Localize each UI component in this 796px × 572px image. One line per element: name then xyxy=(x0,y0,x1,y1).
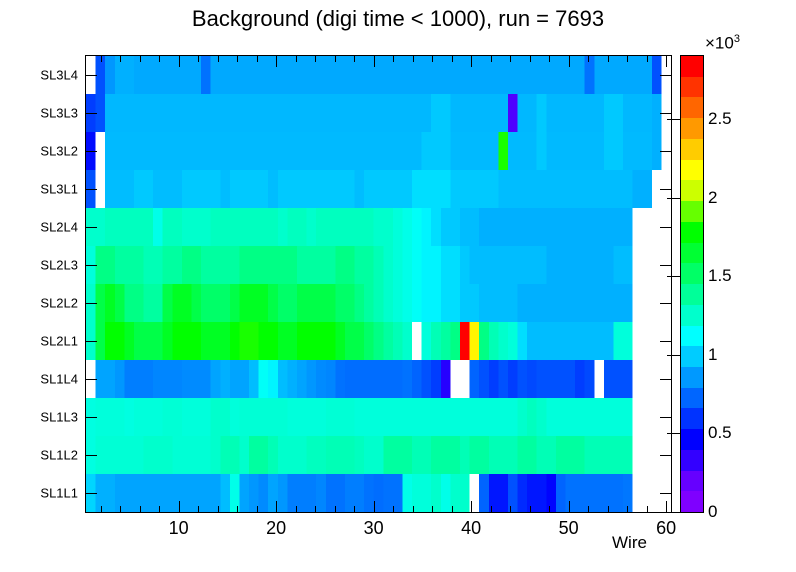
x-axis-tick-top xyxy=(452,56,453,62)
palette-band xyxy=(681,326,703,347)
x-axis-minor-tick xyxy=(432,506,433,512)
palette-tick xyxy=(667,119,681,120)
palette-tick xyxy=(667,512,681,513)
color-palette-axis[interactable]: 00.511.522.5 xyxy=(680,55,704,513)
y-axis-label-sl2l1: SL2L1 xyxy=(40,334,78,349)
x-axis-minor-tick xyxy=(393,506,394,512)
x-axis-tick-top xyxy=(374,56,375,67)
y-axis-tick-right xyxy=(660,493,671,494)
palette-band xyxy=(681,491,703,512)
y-axis-label-sl3l1: SL3L1 xyxy=(40,182,78,197)
palette-exponent-base: ×10 xyxy=(705,34,734,53)
y-axis-label-sl1l1: SL1L1 xyxy=(40,486,78,501)
x-axis-tick-top xyxy=(530,56,531,62)
x-axis-title: Wire xyxy=(612,533,647,553)
x-axis-major-tick xyxy=(666,501,667,512)
palette-exponent: ×103 xyxy=(705,33,740,54)
x-axis-minor-tick xyxy=(627,506,628,512)
palette-band xyxy=(681,429,703,450)
x-axis-tick-top xyxy=(588,56,589,62)
x-axis-minor-tick xyxy=(101,506,102,512)
x-axis-tick-top xyxy=(627,56,628,62)
x-axis-minor-tick xyxy=(335,506,336,512)
x-axis-tick-top xyxy=(159,56,160,62)
palette-band xyxy=(681,180,703,201)
x-axis-tick-top xyxy=(257,56,258,62)
page-title: Background (digi time < 1000), run = 769… xyxy=(0,6,796,32)
x-axis-minor-tick xyxy=(140,506,141,512)
x-axis-minor-tick xyxy=(413,506,414,512)
x-axis-major-tick xyxy=(374,501,375,512)
palette-tick xyxy=(667,276,681,277)
y-axis-label-sl3l3: SL3L3 xyxy=(40,106,78,121)
x-axis-minor-tick xyxy=(120,506,121,512)
x-axis-tick-top xyxy=(510,56,511,62)
x-axis-minor-tick xyxy=(354,506,355,512)
x-axis-tick-top xyxy=(101,56,102,62)
palette-tick xyxy=(667,355,681,356)
x-axis-minor-tick xyxy=(647,506,648,512)
y-axis-tick xyxy=(86,341,97,342)
palette-band xyxy=(681,243,703,264)
x-axis-minor-tick xyxy=(549,506,550,512)
y-axis-label-sl1l3: SL1L3 xyxy=(40,410,78,425)
x-axis-tick-top xyxy=(140,56,141,62)
x-axis-minor-tick xyxy=(588,506,589,512)
y-axis-tick xyxy=(86,493,97,494)
palette-tick-label-2-5: 2.5 xyxy=(708,109,732,129)
y-axis-tick xyxy=(86,113,97,114)
y-axis-tick xyxy=(86,227,97,228)
y-axis-tick-right xyxy=(660,265,671,266)
x-axis-tick-top xyxy=(120,56,121,62)
y-axis-tick-right xyxy=(660,151,671,152)
color-palette-strip xyxy=(681,56,703,512)
y-axis-tick-right xyxy=(660,379,671,380)
y-axis-label-sl1l2: SL1L2 xyxy=(40,448,78,463)
x-axis-minor-tick xyxy=(159,506,160,512)
heatmap-canvas xyxy=(86,56,671,512)
y-axis-tick-right xyxy=(660,113,671,114)
x-axis-minor-tick xyxy=(452,506,453,512)
y-axis-label-sl2l4: SL2L4 xyxy=(40,220,78,235)
x-axis-tick-top xyxy=(608,56,609,62)
x-axis-tick-label-10: 10 xyxy=(169,518,189,539)
x-axis-tick-top xyxy=(335,56,336,62)
palette-band xyxy=(681,97,703,118)
palette-exponent-power: 3 xyxy=(734,33,740,45)
palette-band xyxy=(681,367,703,388)
x-axis-tick-top xyxy=(666,56,667,67)
x-axis-minor-tick xyxy=(510,506,511,512)
heatmap-image xyxy=(86,56,671,512)
palette-tick xyxy=(667,198,681,199)
x-axis-major-tick xyxy=(471,501,472,512)
y-axis-tick-right xyxy=(660,455,671,456)
x-axis-tick-top xyxy=(413,56,414,62)
x-axis-tick-top xyxy=(569,56,570,67)
x-axis-minor-tick xyxy=(530,506,531,512)
y-axis-tick-right xyxy=(660,417,671,418)
plot-frame: SL3L4SL3L3SL3L2SL3L1SL2L4SL2L3SL2L2SL2L1… xyxy=(85,55,672,513)
x-axis-tick-top xyxy=(179,56,180,67)
x-axis-tick-top xyxy=(276,56,277,67)
x-axis-minor-tick xyxy=(296,506,297,512)
x-axis-tick-label-50: 50 xyxy=(559,518,579,539)
x-axis-tick-label-20: 20 xyxy=(266,518,286,539)
x-axis-tick-top xyxy=(198,56,199,62)
root-canvas: Background (digi time < 1000), run = 769… xyxy=(0,0,796,572)
x-axis-tick-top xyxy=(296,56,297,62)
x-axis-minor-tick xyxy=(218,506,219,512)
palette-tick-label-0-5: 0.5 xyxy=(708,423,732,443)
palette-band xyxy=(681,77,703,98)
x-axis-tick-top xyxy=(647,56,648,62)
x-axis-major-tick xyxy=(276,501,277,512)
palette-tick-label-2: 2 xyxy=(708,188,717,208)
x-axis-minor-tick xyxy=(491,506,492,512)
palette-band xyxy=(681,450,703,471)
palette-band xyxy=(681,118,703,139)
palette-band xyxy=(681,388,703,409)
x-axis-tick-top xyxy=(491,56,492,62)
y-axis-tick-right xyxy=(660,341,671,342)
y-axis-label-sl2l2: SL2L2 xyxy=(40,296,78,311)
y-axis-tick xyxy=(86,265,97,266)
x-axis-tick-top xyxy=(237,56,238,62)
x-axis-minor-tick xyxy=(315,506,316,512)
x-axis-minor-tick xyxy=(198,506,199,512)
x-axis-major-tick xyxy=(179,501,180,512)
x-axis-tick-top xyxy=(315,56,316,62)
y-axis-tick xyxy=(86,379,97,380)
palette-band xyxy=(681,408,703,429)
palette-band xyxy=(681,56,703,77)
palette-tick-label-1-5: 1.5 xyxy=(708,266,732,286)
x-axis-tick-top xyxy=(549,56,550,62)
x-axis-tick-top xyxy=(218,56,219,62)
y-axis-label-sl2l3: SL2L3 xyxy=(40,258,78,273)
palette-band xyxy=(681,284,703,305)
y-axis-tick xyxy=(86,151,97,152)
x-axis-tick-label-40: 40 xyxy=(461,518,481,539)
y-axis-tick xyxy=(86,455,97,456)
palette-band xyxy=(681,222,703,243)
x-axis-tick-top xyxy=(432,56,433,62)
y-axis-tick-right xyxy=(660,75,671,76)
palette-band xyxy=(681,160,703,181)
x-axis-minor-tick xyxy=(257,506,258,512)
y-axis-tick-right xyxy=(660,303,671,304)
x-axis-tick-label-60: 60 xyxy=(656,518,676,539)
palette-band xyxy=(681,471,703,492)
palette-tick-label-0: 0 xyxy=(708,502,717,522)
y-axis-tick-right xyxy=(660,189,671,190)
palette-band xyxy=(681,263,703,284)
y-axis-tick xyxy=(86,75,97,76)
x-axis-major-tick xyxy=(569,501,570,512)
x-axis-tick-top xyxy=(393,56,394,62)
y-axis-label-sl3l4: SL3L4 xyxy=(40,67,78,82)
y-axis-tick xyxy=(86,303,97,304)
palette-band xyxy=(681,346,703,367)
y-axis-label-sl3l2: SL3L2 xyxy=(40,144,78,159)
y-axis-label-sl1l4: SL1L4 xyxy=(40,372,78,387)
x-axis-tick-top xyxy=(354,56,355,62)
y-axis-tick-right xyxy=(660,227,671,228)
x-axis-tick-top xyxy=(471,56,472,67)
palette-band xyxy=(681,305,703,326)
palette-band xyxy=(681,201,703,222)
y-axis-tick xyxy=(86,417,97,418)
palette-band xyxy=(681,139,703,160)
x-axis-minor-tick xyxy=(237,506,238,512)
y-axis-tick xyxy=(86,189,97,190)
palette-tick xyxy=(667,433,681,434)
palette-tick-label-1: 1 xyxy=(708,345,717,365)
x-axis-tick-label-30: 30 xyxy=(364,518,384,539)
x-axis-minor-tick xyxy=(608,506,609,512)
